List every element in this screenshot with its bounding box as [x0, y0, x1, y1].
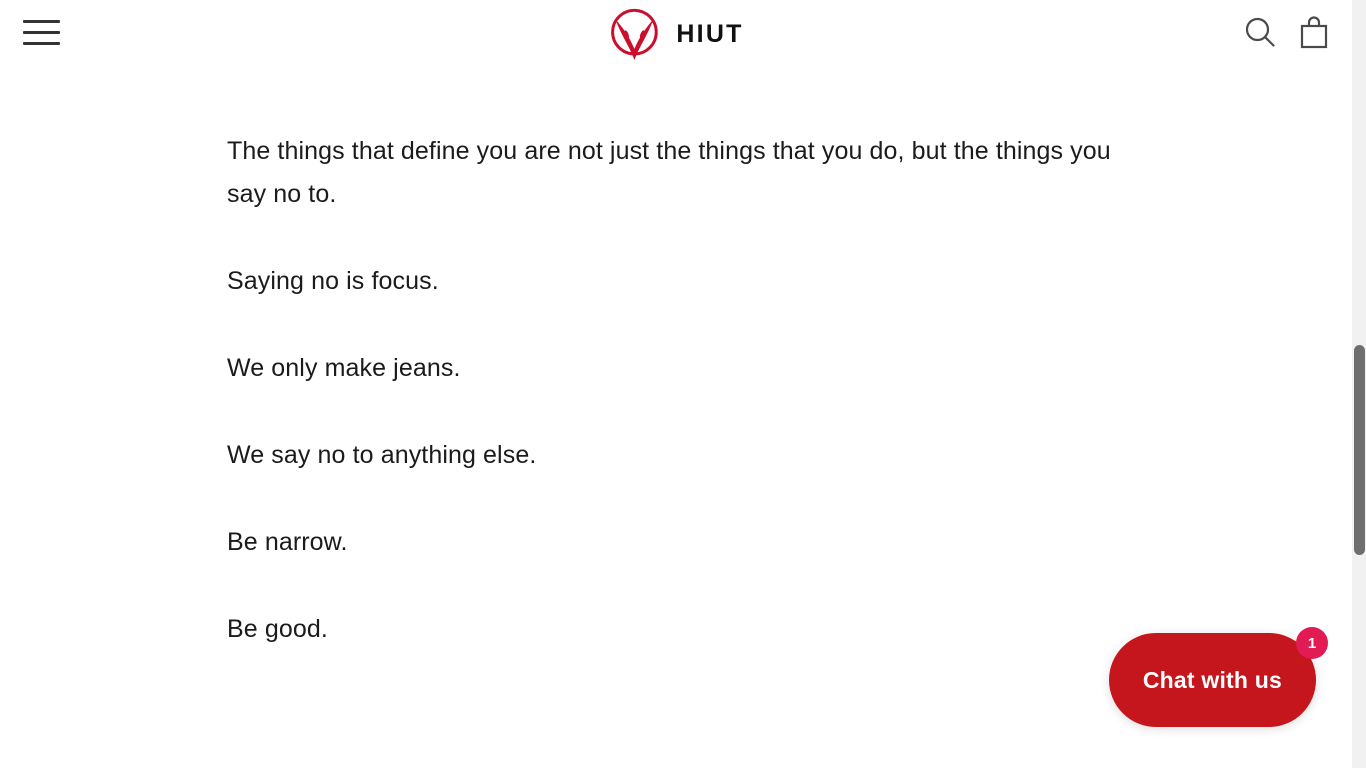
site-header: HIUT	[0, 0, 1352, 68]
hamburger-menu-icon[interactable]	[23, 20, 60, 47]
chat-widget: Chat with us 1	[1109, 633, 1316, 727]
search-button[interactable]	[1240, 12, 1280, 52]
brand-wordmark: HIUT	[676, 22, 743, 47]
hamburger-bar-1	[23, 20, 60, 23]
chat-unread-badge[interactable]: 1	[1296, 627, 1328, 659]
paragraph: Be narrow.	[227, 521, 1127, 564]
hiut-owl-logo-icon	[608, 8, 660, 60]
page-scrollbar-thumb[interactable]	[1354, 345, 1365, 555]
paragraph: We say no to anything else.	[227, 434, 1127, 477]
cart-button[interactable]	[1294, 12, 1334, 52]
paragraph: We only make jeans.	[227, 347, 1127, 390]
brand-logo-link[interactable]: HIUT	[608, 8, 743, 60]
search-icon	[1243, 15, 1277, 49]
paragraph: The things that define you are not just …	[227, 130, 1127, 216]
chat-button-label: Chat with us	[1143, 667, 1282, 694]
hamburger-bar-3	[23, 42, 60, 45]
manifesto-text-block: The things that define you are not just …	[227, 130, 1127, 651]
chat-with-us-button[interactable]: Chat with us	[1109, 633, 1316, 727]
shopping-bag-icon	[1298, 15, 1330, 49]
header-actions	[1240, 12, 1334, 52]
page-scrollbar-track[interactable]	[1352, 0, 1366, 768]
paragraph: Saying no is focus.	[227, 260, 1127, 303]
hamburger-bar-2	[23, 31, 60, 34]
paragraph: Be good.	[227, 608, 1127, 651]
